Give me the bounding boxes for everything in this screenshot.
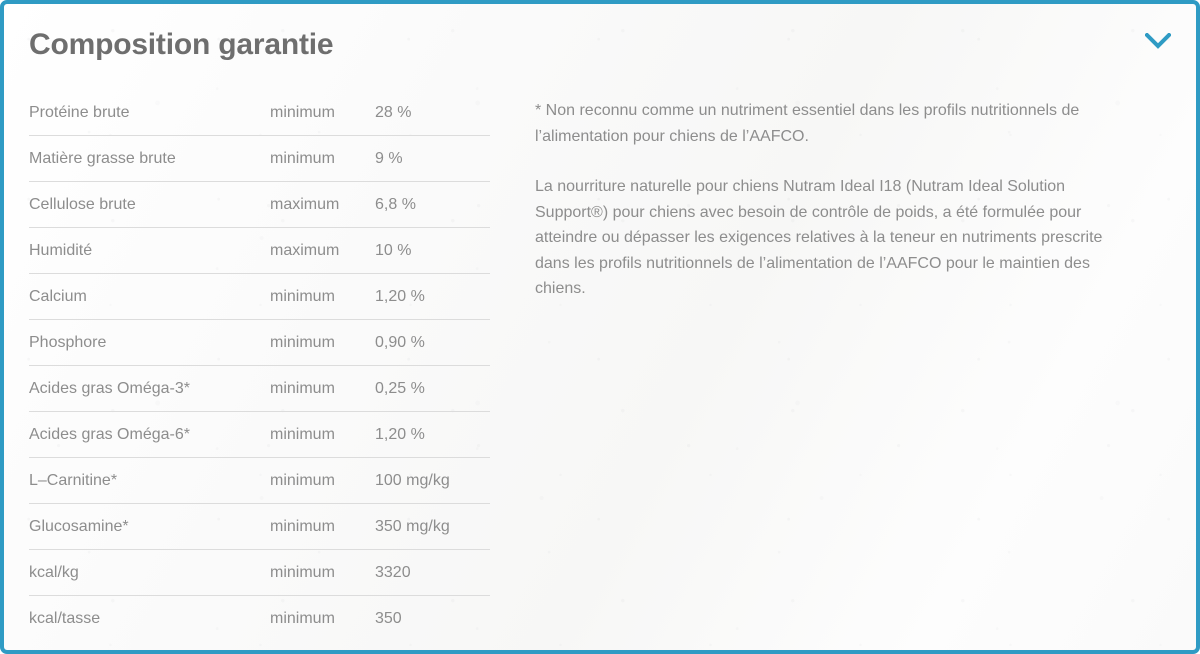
nutrient-qualifier: minimum — [270, 150, 375, 168]
nutrient-name: Acides gras Oméga-3* — [29, 380, 270, 398]
nutrient-value: 100 mg/kg — [375, 472, 490, 490]
table-row: Humidité maximum 10 % — [29, 228, 490, 274]
table-row: L–Carnitine* minimum 100 mg/kg — [29, 458, 490, 504]
guaranteed-analysis-panel: Composition garantie Protéine brute mini… — [0, 0, 1200, 654]
nutrient-qualifier: minimum — [270, 472, 375, 490]
table-row: Phosphore minimum 0,90 % — [29, 320, 490, 366]
nutrient-qualifier: minimum — [270, 104, 375, 122]
guaranteed-analysis-table: Protéine brute minimum 28 % Matière gras… — [29, 90, 490, 641]
chevron-down-icon — [1145, 33, 1171, 49]
table-row: Glucosamine* minimum 350 mg/kg — [29, 504, 490, 550]
nutrient-name: Calcium — [29, 288, 270, 306]
nutrient-value: 9 % — [375, 150, 490, 168]
aafco-statement-text: La nourriture naturelle pour chiens Nutr… — [535, 174, 1135, 302]
accordion-toggle-button[interactable] — [1136, 24, 1180, 58]
nutrient-value: 1,20 % — [375, 288, 490, 306]
nutrient-qualifier: minimum — [270, 564, 375, 582]
nutrient-qualifier: minimum — [270, 610, 375, 628]
table-row: Acides gras Oméga-3* minimum 0,25 % — [29, 366, 490, 412]
table-row: Cellulose brute maximum 6,8 % — [29, 182, 490, 228]
table-row: Protéine brute minimum 28 % — [29, 90, 490, 136]
panel-header: Composition garantie — [4, 4, 1196, 90]
nutrient-value: 350 mg/kg — [375, 518, 490, 536]
nutrient-value: 350 — [375, 610, 490, 628]
nutrient-value: 0,25 % — [375, 380, 490, 398]
nutrient-value: 28 % — [375, 104, 490, 122]
footnote-text: * Non reconnu comme un nutriment essenti… — [535, 98, 1135, 149]
nutrient-qualifier: minimum — [270, 426, 375, 444]
nutrient-name: Glucosamine* — [29, 518, 270, 536]
table-row: kcal/kg minimum 3320 — [29, 550, 490, 596]
table-row: Matière grasse brute minimum 9 % — [29, 136, 490, 182]
nutrient-name: kcal/kg — [29, 564, 270, 582]
nutrient-name: kcal/tasse — [29, 610, 270, 628]
nutrient-name: L–Carnitine* — [29, 472, 270, 490]
nutrient-name: Matière grasse brute — [29, 150, 270, 168]
table-row: Calcium minimum 1,20 % — [29, 274, 490, 320]
nutrient-qualifier: minimum — [270, 518, 375, 536]
nutrient-value: 0,90 % — [375, 334, 490, 352]
nutrient-qualifier: minimum — [270, 380, 375, 398]
nutrient-value: 6,8 % — [375, 196, 490, 214]
nutrient-name: Protéine brute — [29, 104, 270, 122]
nutrient-qualifier: minimum — [270, 334, 375, 352]
nutrient-qualifier: maximum — [270, 242, 375, 260]
nutrient-qualifier: maximum — [270, 196, 375, 214]
table-row: kcal/tasse minimum 350 — [29, 596, 490, 641]
table-row: Acides gras Oméga-6* minimum 1,20 % — [29, 412, 490, 458]
nutrient-qualifier: minimum — [270, 288, 375, 306]
nutrient-value: 10 % — [375, 242, 490, 260]
page-title: Composition garantie — [29, 28, 333, 62]
nutrient-value: 1,20 % — [375, 426, 490, 444]
nutrient-name: Humidité — [29, 242, 270, 260]
nutrient-value: 3320 — [375, 564, 490, 582]
nutrient-name: Acides gras Oméga-6* — [29, 426, 270, 444]
panel-body: Protéine brute minimum 28 % Matière gras… — [4, 90, 1196, 650]
nutrient-name: Cellulose brute — [29, 196, 270, 214]
notes-column: * Non reconnu comme un nutriment essenti… — [535, 98, 1135, 302]
nutrient-name: Phosphore — [29, 334, 270, 352]
